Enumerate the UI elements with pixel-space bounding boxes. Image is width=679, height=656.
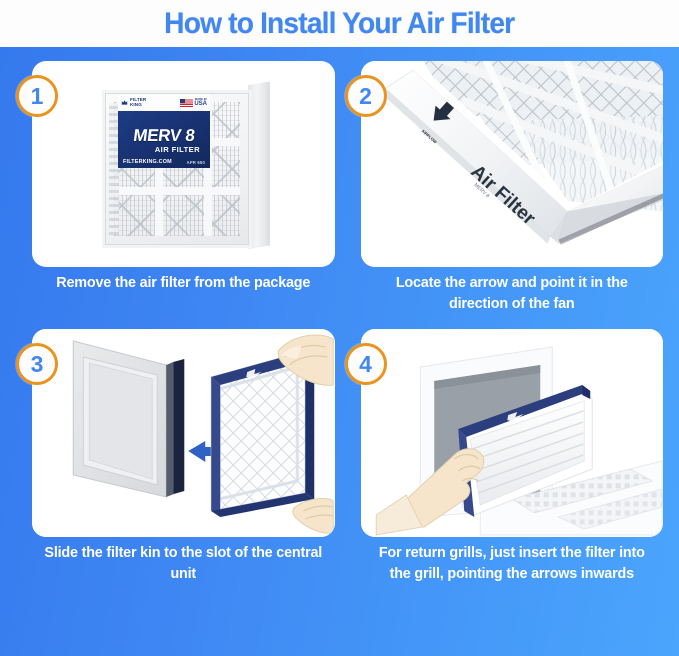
slide-filter-into-slot-illustration (32, 329, 335, 537)
crown-icon (121, 99, 128, 106)
step-number-3: 3 (31, 351, 44, 378)
step-number-1: 1 (31, 83, 44, 110)
step-card-2: AIRFLOW Air Filter MERV 8 (361, 61, 664, 267)
air-filter-box: FILTER KING (102, 85, 270, 249)
website-text: FILTERKING.COM (123, 159, 172, 165)
step-cell-2: AIRFLOW Air Filter MERV 8 2 Locate the a… (345, 61, 664, 323)
product-label: FILTER KING (118, 94, 210, 168)
label-footer-row: FILTERKING.COM APR 650 (118, 159, 210, 165)
step-caption-2: Locate the arrow and point it in the dir… (361, 273, 664, 315)
insert-filter-into-return-grill-illustration (361, 329, 664, 537)
country-text: USA (194, 101, 207, 107)
step-number-4: 4 (359, 351, 372, 378)
step-4-image (361, 329, 664, 537)
step-caption-3: Slide the filter kin to the slot of the … (32, 543, 335, 585)
step-3-image (32, 329, 335, 537)
usa-flag-icon (180, 99, 193, 107)
step-badge-4: 4 (345, 343, 387, 385)
logo-line-2: KING (130, 103, 146, 108)
step-1-image: FILTER KING (32, 61, 335, 267)
step-cell-1: FILTER KING (16, 61, 335, 323)
merv-rating-text: MERV 8 (123, 127, 205, 144)
step-card-1: FILTER KING (32, 61, 335, 267)
made-in-usa-badge: MADE IN USA (180, 98, 207, 107)
label-header-strip: FILTER KING (118, 94, 210, 111)
step-caption-4: For return grills, just insert the filte… (361, 543, 664, 585)
step-2-image: AIRFLOW Air Filter MERV 8 (361, 61, 664, 267)
step-cell-3: 3 Slide the filter kin to the slot of th… (16, 329, 335, 619)
step-card-3 (32, 329, 335, 537)
filter-king-logo: FILTER KING (121, 98, 146, 108)
step-caption-1: Remove the air filter from the package (32, 273, 335, 294)
header-band: How to Install Your Air Filter (0, 0, 679, 47)
apr-rating-text: APR 650 (187, 160, 205, 165)
step-badge-3: 3 (16, 343, 58, 385)
label-navy-body: MERV 8 AIR FILTER FILTERKING.COM APR 650 (118, 111, 210, 168)
step-card-4 (361, 329, 664, 537)
step-badge-1: 1 (16, 75, 58, 117)
page-title: How to Install Your Air Filter (164, 7, 514, 41)
filter-corner-illustration: AIRFLOW Air Filter MERV 8 (361, 61, 664, 267)
step-number-2: 2 (359, 83, 372, 110)
step-badge-2: 2 (345, 75, 387, 117)
product-type-text: AIR FILTER (124, 145, 204, 155)
steps-grid: FILTER KING (0, 47, 679, 656)
step-cell-4: 4 For return grills, just insert the fil… (345, 329, 664, 619)
infographic-root: How to Install Your Air Filter (0, 0, 679, 656)
